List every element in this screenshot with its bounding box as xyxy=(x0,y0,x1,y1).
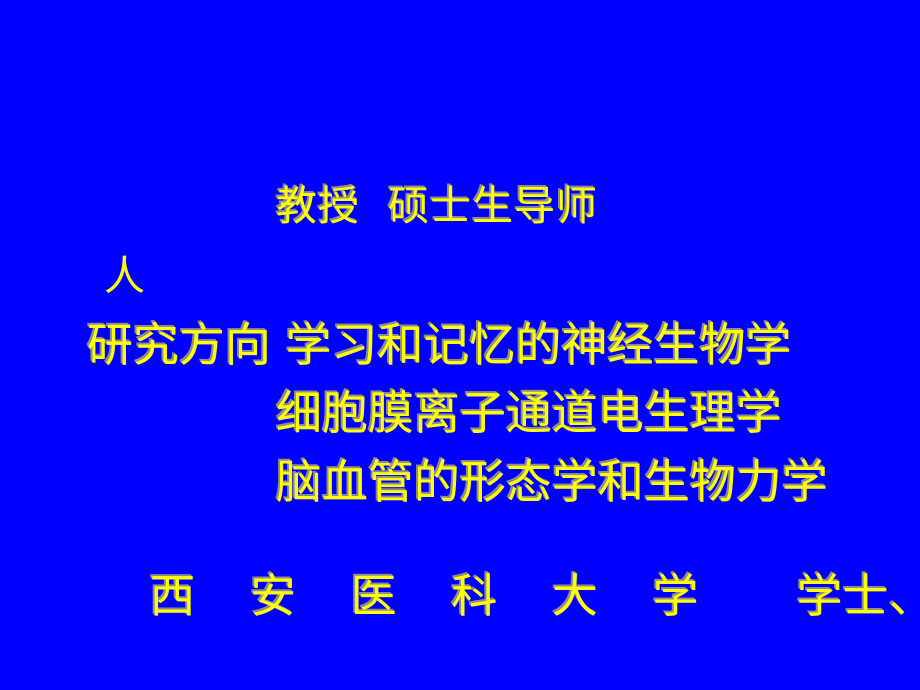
presentation-slide: 教授 硕士生导师 人 研究方向 学习和记忆的神经生物学 细胞膜离子通道电生理学 … xyxy=(0,0,920,690)
slide-line-research-direction-3: 脑血管的形态学和生物力学 xyxy=(276,459,828,505)
slide-line-research-direction-1: 研究方向 学习和记忆的神经生物学 xyxy=(87,322,792,368)
slide-line-person-label: 人 xyxy=(104,256,145,297)
slide-line-research-direction-2: 细胞膜离子通道电生理学 xyxy=(276,390,782,436)
slide-line-education: 西 安 医 科 大 学学士、硕士 xyxy=(91,527,920,665)
slide-line-academic-title: 教授 硕士生导师 xyxy=(276,186,598,227)
education-school-name: 西 安 医 科 大 学 xyxy=(150,569,719,623)
education-degrees: 学士、硕士 xyxy=(797,569,920,623)
